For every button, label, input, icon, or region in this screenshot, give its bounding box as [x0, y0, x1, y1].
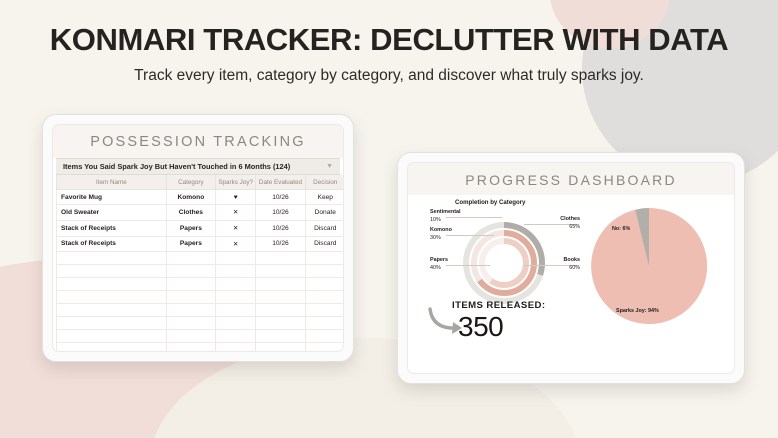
cell-category: Komono: [166, 190, 215, 205]
cross-icon: ✕: [215, 204, 255, 220]
cell-empty: [166, 278, 215, 291]
cell-empty: [305, 343, 344, 352]
donut-label-clothes: Clothes 65%: [552, 216, 580, 232]
donut-label-sentimental-value: 10%: [430, 217, 461, 225]
page-subtitle: Track every item, category by category, …: [0, 67, 778, 85]
cell-empty: [166, 304, 215, 317]
column-header-sparks-joy[interactable]: Sparks Joy?: [215, 175, 255, 190]
cell-empty: [57, 252, 167, 265]
cell-item-name: Old Sweater: [57, 204, 167, 220]
page-title: KONMARI TRACKER: DECLUTTER WITH DATA: [0, 22, 778, 58]
cell-empty: [215, 265, 255, 278]
cell-decision: Donate: [305, 204, 344, 220]
pie-label-sparks-joy: Sparks Joy: 94%: [616, 308, 659, 314]
cell-empty: [57, 278, 167, 291]
donut-label-papers-name: Papers: [430, 257, 448, 263]
cell-date: 10/26: [256, 220, 305, 236]
cell-empty: [256, 317, 305, 330]
possession-table: Item Name Category Sparks Joy? Date Eval…: [56, 175, 344, 352]
donut-label-books: Books 60%: [552, 257, 580, 273]
table-row[interactable]: Old SweaterClothes✕10/26Donate: [57, 204, 345, 220]
filter-bar[interactable]: Items You Said Spark Joy But Haven't Tou…: [56, 158, 340, 175]
tablet-device-left: POSSESSION TRACKING Items You Said Spark…: [42, 114, 354, 362]
cell-item-name: Stack of Receipts: [57, 220, 167, 236]
table-row[interactable]: Stack of ReceiptsPapers✕10/26Discard: [57, 236, 345, 252]
items-released-value: 350: [458, 311, 503, 343]
leader-line-papers: [446, 265, 490, 266]
filter-label: Items You Said Spark Joy But Haven't Tou…: [63, 162, 326, 171]
cell-empty: [166, 291, 215, 304]
cross-icon: ✕: [215, 220, 255, 236]
donut-label-clothes-value: 65%: [552, 224, 580, 232]
dashboard-title: PROGRESS DASHBOARD: [408, 163, 734, 195]
cell-empty: [166, 317, 215, 330]
cell-empty: [166, 265, 215, 278]
cell-empty: [215, 278, 255, 291]
table-row-empty[interactable]: [57, 317, 345, 330]
cell-empty: [305, 317, 344, 330]
cell-decision: Keep: [305, 190, 344, 205]
cell-date: 10/26: [256, 190, 305, 205]
cell-decision: Discard: [305, 236, 344, 252]
tablet-device-right: PROGRESS DASHBOARD Completion by Categor…: [397, 152, 745, 384]
cell-item-name: Stack of Receipts: [57, 236, 167, 252]
donut-label-sentimental: Sentimental 10%: [430, 209, 461, 225]
cell-empty: [215, 317, 255, 330]
dashboard-body: Completion by Category: [408, 195, 734, 370]
spreadsheet-title: POSSESSION TRACKING: [53, 125, 343, 158]
donut-label-papers: Papers 40%: [430, 257, 448, 273]
column-header-item-name[interactable]: Item Name: [57, 175, 167, 190]
table-row[interactable]: Favorite MugKomono♥10/26Keep: [57, 190, 345, 205]
cell-empty: [166, 252, 215, 265]
cell-decision: Discard: [305, 220, 344, 236]
cell-empty: [256, 330, 305, 343]
table-row-empty[interactable]: [57, 330, 345, 343]
cell-date: 10/26: [256, 204, 305, 220]
donut-label-komono-name: Komono: [430, 227, 452, 233]
cell-empty: [57, 265, 167, 278]
cell-empty: [305, 291, 344, 304]
pie-label-no: No: 6%: [612, 226, 630, 232]
cell-empty: [57, 291, 167, 304]
cell-empty: [166, 330, 215, 343]
filter-dropdown-icon[interactable]: ▼: [326, 163, 333, 170]
cell-empty: [215, 291, 255, 304]
donut-label-books-name: Books: [564, 257, 580, 263]
cell-item-name: Favorite Mug: [57, 190, 167, 205]
donut-chart-title: Completion by Category: [455, 199, 525, 206]
cell-empty: [256, 278, 305, 291]
table-row-empty[interactable]: [57, 252, 345, 265]
cell-empty: [215, 304, 255, 317]
cell-empty: [305, 252, 344, 265]
cell-empty: [57, 317, 167, 330]
cell-category: Clothes: [166, 204, 215, 220]
donut-label-clothes-name: Clothes: [560, 216, 580, 222]
cell-empty: [256, 291, 305, 304]
donut-label-komono: Komono 30%: [430, 227, 452, 243]
cell-empty: [256, 304, 305, 317]
donut-label-komono-value: 30%: [430, 235, 452, 243]
cell-empty: [256, 343, 305, 352]
cell-empty: [305, 278, 344, 291]
table-row-empty[interactable]: [57, 343, 345, 352]
heart-icon: ♥: [215, 190, 255, 205]
table-header-row: Item Name Category Sparks Joy? Date Eval…: [57, 175, 345, 190]
table-row-empty[interactable]: [57, 304, 345, 317]
poster-header: KONMARI TRACKER: DECLUTTER WITH DATA Tra…: [0, 22, 778, 85]
cell-empty: [256, 252, 305, 265]
cell-empty: [57, 330, 167, 343]
cell-category: Papers: [166, 220, 215, 236]
cell-empty: [57, 304, 167, 317]
table-row-empty[interactable]: [57, 278, 345, 291]
poster-canvas: KONMARI TRACKER: DECLUTTER WITH DATA Tra…: [0, 0, 778, 438]
cell-empty: [215, 330, 255, 343]
column-header-decision[interactable]: Decision: [305, 175, 344, 190]
leader-line-komono: [446, 235, 494, 236]
cell-date: 10/26: [256, 236, 305, 252]
cell-empty: [305, 330, 344, 343]
donut-label-sentimental-name: Sentimental: [430, 209, 461, 215]
cell-empty: [305, 265, 344, 278]
donut-label-papers-value: 40%: [430, 265, 448, 273]
column-header-category[interactable]: Category: [166, 175, 215, 190]
table-row[interactable]: Stack of ReceiptsPapers✕10/26Discard: [57, 220, 345, 236]
spreadsheet-screen: POSSESSION TRACKING Items You Said Spark…: [52, 124, 344, 352]
table-row-empty[interactable]: [57, 265, 345, 278]
donut-label-books-value: 60%: [552, 265, 580, 273]
dashboard-screen: PROGRESS DASHBOARD Completion by Categor…: [407, 162, 735, 374]
cell-empty: [57, 343, 167, 352]
items-released-label: ITEMS RELEASED:: [452, 300, 545, 311]
cell-empty: [166, 343, 215, 352]
cell-empty: [215, 252, 255, 265]
cell-empty: [305, 304, 344, 317]
table-row-empty[interactable]: [57, 291, 345, 304]
column-header-date-evaluated[interactable]: Date Evaluated: [256, 175, 305, 190]
cell-empty: [256, 265, 305, 278]
cross-icon: ✕: [215, 236, 255, 252]
cell-empty: [215, 343, 255, 352]
cell-category: Papers: [166, 236, 215, 252]
